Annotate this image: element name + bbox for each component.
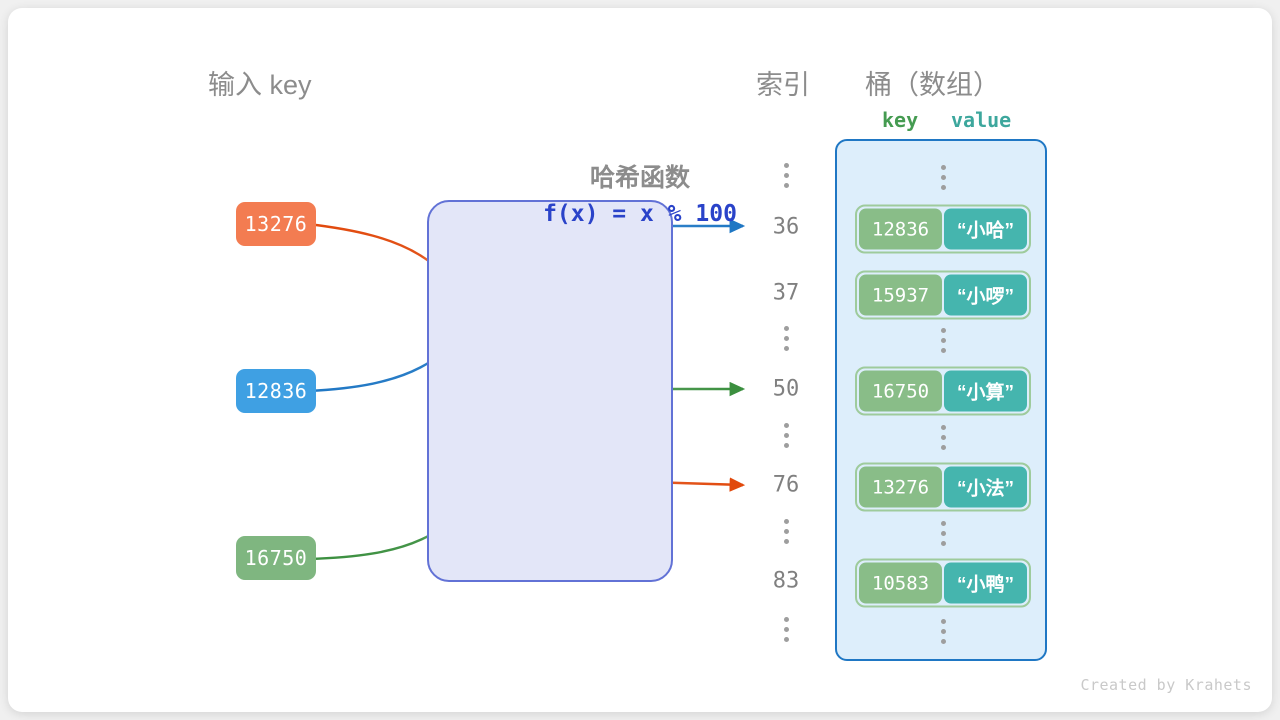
hash-function-formula: f(x) = x % 100: [8, 201, 1272, 227]
vertical-ellipsis-icon: [941, 425, 946, 450]
bucket-row-37[interactable]: 15937 “小啰”: [855, 271, 1031, 320]
bucket-key-76: 13276: [859, 467, 942, 508]
index-ellipsis-4: [756, 617, 816, 647]
index-label-37: 37: [756, 281, 816, 306]
bucket-key-37: 15937: [859, 275, 942, 316]
vertical-ellipsis-icon: [784, 519, 789, 544]
column-title-index: 索引: [756, 63, 810, 102]
bucket-row-76[interactable]: 13276 “小法”: [855, 463, 1031, 512]
bucket-value-83: “小鸭”: [944, 563, 1027, 604]
hash-function-title: 哈希函数: [8, 158, 1272, 194]
column-title-bucket: 桶（数组）: [865, 63, 1000, 102]
index-label-83: 83: [756, 569, 816, 594]
index-ellipsis-2: [756, 423, 816, 453]
index-ellipsis-1: [756, 326, 816, 356]
bucket-row-83[interactable]: 10583 “小鸭”: [855, 559, 1031, 608]
vertical-ellipsis-icon: [784, 617, 789, 642]
bucket-value-50: “小算”: [944, 371, 1027, 412]
credit-text: Created by Krahets: [1080, 676, 1252, 694]
bucket-value-37: “小啰”: [944, 275, 1027, 316]
bucket-ellipsis-3: [837, 521, 1049, 551]
index-label-50: 50: [756, 377, 816, 402]
index-ellipsis-3: [756, 519, 816, 549]
index-label-76: 76: [756, 473, 816, 498]
column-label-value: value: [951, 108, 1011, 132]
bucket-ellipsis-1: [837, 328, 1049, 358]
column-title-input-key: 输入 key: [208, 63, 312, 102]
vertical-ellipsis-icon: [784, 423, 789, 448]
diagram-canvas: 输入 key 索引 桶（数组） key value: [8, 8, 1272, 712]
hash-function-box: [427, 200, 673, 582]
vertical-ellipsis-icon: [941, 619, 946, 644]
input-key-chip-12836[interactable]: 12836: [236, 369, 316, 413]
input-key-chip-16750[interactable]: 16750: [236, 536, 316, 580]
column-label-key: key: [882, 108, 918, 132]
bucket-key-83: 10583: [859, 563, 942, 604]
bucket-row-50[interactable]: 16750 “小算”: [855, 367, 1031, 416]
vertical-ellipsis-icon: [784, 326, 789, 351]
bucket-ellipsis-2: [837, 425, 1049, 455]
vertical-ellipsis-icon: [941, 328, 946, 353]
bucket-key-50: 16750: [859, 371, 942, 412]
bucket-value-76: “小法”: [944, 467, 1027, 508]
bucket-ellipsis-4: [837, 619, 1049, 649]
vertical-ellipsis-icon: [941, 521, 946, 546]
